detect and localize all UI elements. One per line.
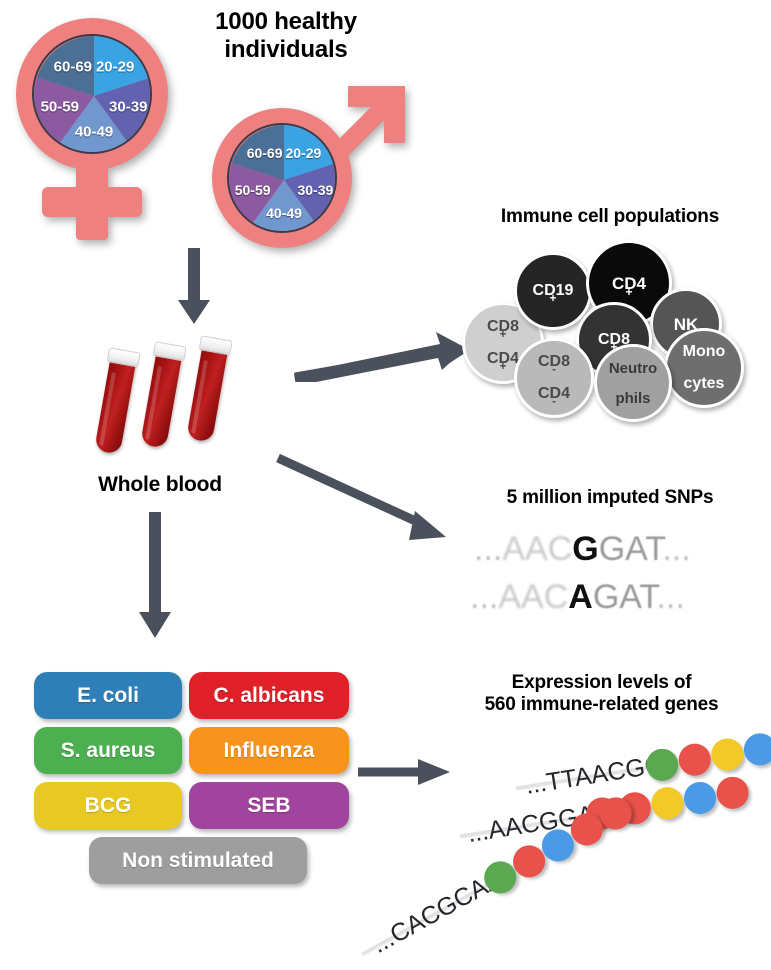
blood-tube-body (94, 356, 136, 455)
pill-label: E. coli (77, 684, 139, 708)
pie-label-30-39: 30-39 (109, 99, 147, 116)
pie-label-30-39: 30-39 (297, 182, 333, 198)
gene-bead (682, 780, 719, 817)
gene-bead (676, 741, 713, 778)
pie-label-20-29: 20-29 (285, 145, 321, 161)
pill-label: S. aureus (61, 739, 156, 763)
snp-trail-dots: ... (662, 530, 690, 568)
snp-lead-dots: ... (474, 530, 502, 568)
pie-label-60-69: 60-69 (54, 58, 92, 75)
snp-suffix: GAT (599, 530, 663, 568)
blood-tube-body (186, 344, 228, 443)
pill-label: Non stimulated (122, 849, 274, 873)
arrow-cohort-to-blood (176, 248, 212, 326)
pill-label: C. albicans (214, 684, 325, 708)
expression-title-line2: 560 immune-related genes (432, 694, 771, 716)
immune-cell-cd8neg-cd4neg: CD8- CD4- (514, 338, 594, 418)
stimulus-pill-seb[interactable]: SEB (189, 782, 349, 829)
age-distribution-pie-male: 20-2930-3940-4950-5960-69 (227, 123, 337, 233)
pill-label: SEB (247, 794, 290, 818)
snp-suffix: GAT (593, 578, 657, 616)
snp-lead-dots: ... (470, 578, 498, 616)
pie-label-20-29: 20-29 (96, 58, 134, 75)
gene-bead (714, 775, 751, 812)
snp-prefix: AAC (498, 578, 568, 616)
female-gender-symbol: 20-2930-3940-4950-5960-69 (8, 10, 198, 250)
arrow-blood-to-snp (276, 452, 456, 554)
cohort-title-line2: individuals (176, 36, 396, 64)
pill-label: BCG (85, 794, 132, 818)
blood-tube (93, 348, 138, 463)
snp-variant-allele: A (568, 578, 593, 616)
blood-tube-gloss (99, 372, 116, 446)
arrow-blood-to-immune (292, 330, 468, 382)
snp-sequence-row: ...AACAGAT... (470, 578, 685, 617)
immune-cell-bubble-cluster: CD8+ CD4+ CD19+ CD4+ NK CD8+ (452, 240, 762, 415)
whole-blood-tubes (106, 332, 296, 462)
snp-sequence-row: ...AACGGAT... (474, 530, 691, 569)
cohort-title: 1000 healthy individuals (176, 8, 396, 65)
gene-bead (742, 731, 771, 768)
immune-cell-monocytes: Mono cytes (664, 328, 744, 408)
bubble-label-line2: cytes (683, 376, 726, 392)
bubble-label-line2: phils (609, 391, 657, 406)
stimulus-pill-c-albicans[interactable]: C. albicans (189, 672, 349, 719)
gene-bead (649, 785, 686, 822)
cohort-title-line1: 1000 healthy (176, 8, 396, 36)
immune-cell-cd19pos: CD19+ (514, 252, 592, 330)
pill-label: Influenza (223, 739, 314, 763)
blood-tube-body (140, 350, 182, 449)
pie-label-40-49: 40-49 (75, 124, 113, 141)
arrow-blood-to-stimuli (137, 512, 173, 640)
stimulus-pill-influenza[interactable]: Influenza (189, 727, 349, 774)
blood-tube-gloss (145, 366, 162, 440)
age-distribution-pie-female: 20-2930-3940-4950-5960-69 (32, 34, 152, 154)
expression-title-line1: Expression levels of (432, 672, 771, 694)
pie-label-60-69: 60-69 (247, 145, 283, 161)
immune-cell-neutrophils: Neutro phils (594, 344, 672, 422)
stimuli-panel: E. coli C. albicans S. aureus Influenza … (34, 672, 344, 902)
gene-expression-strands: ...TTAACGG ...AACGGAT ...CACGCAA (430, 740, 771, 920)
snp-title: 5 million imputed SNPs (450, 487, 770, 509)
gene-bead (709, 736, 746, 773)
snp-variant-allele: G (572, 530, 598, 568)
stimulus-pill-non-stimulated[interactable]: Non stimulated (89, 837, 307, 884)
immune-populations-title: Immune cell populations (450, 206, 770, 228)
blood-tube (139, 342, 184, 457)
stimulus-pill-bcg[interactable]: BCG (34, 782, 182, 829)
pie-label-50-59: 50-59 (235, 182, 271, 198)
bubble-label-line1: Mono (683, 344, 726, 360)
study-design-diagram: 1000 healthy individuals 20-2930-3940-49… (0, 0, 771, 922)
pie-label-40-49: 40-49 (266, 205, 302, 221)
bubble-label-line1: Neutro (609, 361, 657, 376)
blood-tube-gloss (191, 360, 208, 434)
pie-label-50-59: 50-59 (41, 99, 79, 116)
stimulus-pill-e-coli[interactable]: E. coli (34, 672, 182, 719)
male-gender-symbol: 20-2930-3940-4950-5960-69 (200, 78, 420, 268)
expression-title: Expression levels of 560 immune-related … (432, 672, 771, 717)
whole-blood-label: Whole blood (60, 473, 260, 498)
snp-trail-dots: ... (656, 578, 684, 616)
stimulus-pill-s-aureus[interactable]: S. aureus (34, 727, 182, 774)
snp-sequences: ...AACGGAT... ...AACAGAT... (470, 530, 760, 625)
snp-prefix: AAC (502, 530, 572, 568)
blood-tube (185, 336, 230, 451)
female-symbol-cross (42, 187, 142, 217)
